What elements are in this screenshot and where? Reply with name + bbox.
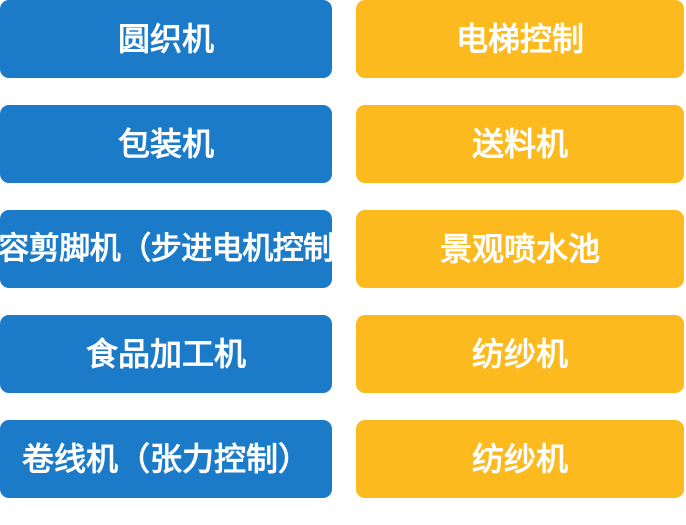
app-card-label: 纺纱机 <box>472 338 568 370</box>
app-card-label: 电容剪脚机（步进电机控制） <box>0 234 364 265</box>
app-card-orange-3[interactable]: 景观喷水池 <box>356 210 684 288</box>
app-card-orange-5[interactable]: 纺纱机 <box>356 420 684 498</box>
app-card-orange-4[interactable]: 纺纱机 <box>356 315 684 393</box>
app-card-label: 包装机 <box>118 128 214 160</box>
app-card-label: 食品加工机 <box>86 338 246 370</box>
app-card-label: 电梯控制 <box>456 23 584 55</box>
app-card-label: 景观喷水池 <box>440 233 600 265</box>
blue-column: 圆织机 包装机 电容剪脚机（步进电机控制） 食品加工机 卷线机（张力控制） <box>0 0 332 525</box>
app-card-blue-2[interactable]: 包装机 <box>0 105 332 183</box>
app-card-label: 卷线机（张力控制） <box>22 443 310 475</box>
app-card-orange-2[interactable]: 送料机 <box>356 105 684 183</box>
app-card-label: 送料机 <box>472 128 568 160</box>
app-card-label: 圆织机 <box>118 23 214 55</box>
app-card-blue-3[interactable]: 电容剪脚机（步进电机控制） <box>0 210 332 288</box>
application-card-board: 圆织机 包装机 电容剪脚机（步进电机控制） 食品加工机 卷线机（张力控制） 电梯… <box>0 0 686 503</box>
orange-column: 电梯控制 送料机 景观喷水池 纺纱机 纺纱机 <box>356 0 684 525</box>
app-card-label: 纺纱机 <box>472 443 568 475</box>
app-card-blue-4[interactable]: 食品加工机 <box>0 315 332 393</box>
app-card-blue-5[interactable]: 卷线机（张力控制） <box>0 420 332 498</box>
app-card-orange-1[interactable]: 电梯控制 <box>356 0 684 78</box>
app-card-blue-1[interactable]: 圆织机 <box>0 0 332 78</box>
